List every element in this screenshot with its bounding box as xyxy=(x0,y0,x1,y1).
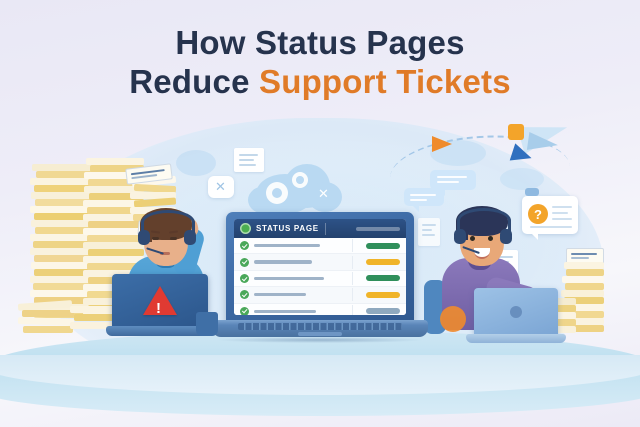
title-line-2-plain: Reduce xyxy=(129,63,259,100)
status-pill xyxy=(366,243,400,249)
coffee-mug xyxy=(196,312,218,336)
paper-plane-group xyxy=(390,112,590,188)
status-row-label xyxy=(254,244,320,247)
check-icon xyxy=(240,307,249,315)
headset-earcup xyxy=(184,230,196,245)
check-icon xyxy=(240,274,249,283)
left-agent-eye xyxy=(152,237,159,240)
right-agent-eye xyxy=(488,236,493,241)
status-row[interactable] xyxy=(234,304,406,315)
tag-icon xyxy=(508,124,524,140)
x-badge-left: ✕ xyxy=(208,176,234,198)
laptop-shadow xyxy=(218,337,422,343)
laptop-keyboard[interactable] xyxy=(238,323,402,330)
status-row-label xyxy=(254,260,312,263)
status-pill xyxy=(366,259,400,265)
status-pill xyxy=(366,292,400,298)
row-divider xyxy=(352,256,353,269)
header-placeholder-chip xyxy=(356,227,400,231)
banner-title: How Status Pages Reduce Support Tickets xyxy=(0,24,640,102)
document-icon xyxy=(234,148,264,172)
laptop-logo xyxy=(510,306,522,318)
status-row-label xyxy=(254,310,316,313)
right-agent-laptop-base xyxy=(466,334,566,343)
title-line-2: Reduce Support Tickets xyxy=(0,63,640,102)
laptop-lid: STATUS PAGE xyxy=(226,212,414,324)
status-page-laptop: STATUS PAGE xyxy=(212,212,428,344)
headset-earcup xyxy=(500,229,512,244)
illustration-canvas: How Status Pages Reduce Support Tickets … xyxy=(0,0,640,427)
status-page-screen[interactable]: STATUS PAGE xyxy=(234,219,406,315)
title-line-1: How Status Pages xyxy=(0,24,640,63)
status-pill xyxy=(366,308,400,314)
headset-earcup xyxy=(454,229,466,244)
row-divider xyxy=(352,239,353,252)
orange-object xyxy=(440,306,466,332)
status-page-header: STATUS PAGE xyxy=(234,219,406,238)
laptop-trackpad[interactable] xyxy=(298,332,342,336)
check-icon xyxy=(240,258,249,267)
status-row[interactable] xyxy=(234,271,406,287)
x-icon: ✕ xyxy=(318,187,329,200)
status-page-rows xyxy=(234,238,406,315)
ticket-stack-right xyxy=(546,248,628,340)
status-row[interactable] xyxy=(234,287,406,303)
gear-icon xyxy=(266,182,288,204)
status-row[interactable] xyxy=(234,254,406,270)
alert-exclamation: ! xyxy=(156,301,161,316)
status-row-label xyxy=(254,277,324,280)
gear-icon xyxy=(292,172,308,188)
status-row[interactable] xyxy=(234,238,406,254)
title-line-2-accent: Support Tickets xyxy=(259,63,511,100)
headset-earcup xyxy=(138,230,150,245)
arrow-orange-icon xyxy=(432,136,452,152)
cloud-shape xyxy=(176,150,216,176)
x-icon: ✕ xyxy=(215,180,226,193)
status-pill xyxy=(366,275,400,281)
status-page-title: STATUS PAGE xyxy=(256,224,319,233)
check-icon xyxy=(240,241,249,250)
check-icon xyxy=(240,290,249,299)
row-divider xyxy=(352,288,353,301)
status-row-label xyxy=(254,293,306,296)
row-divider xyxy=(352,305,353,315)
row-divider xyxy=(352,272,353,285)
right-agent-eye xyxy=(470,236,475,241)
left-agent-eye xyxy=(170,237,177,240)
header-divider xyxy=(325,223,326,235)
status-logo-icon xyxy=(240,223,251,234)
